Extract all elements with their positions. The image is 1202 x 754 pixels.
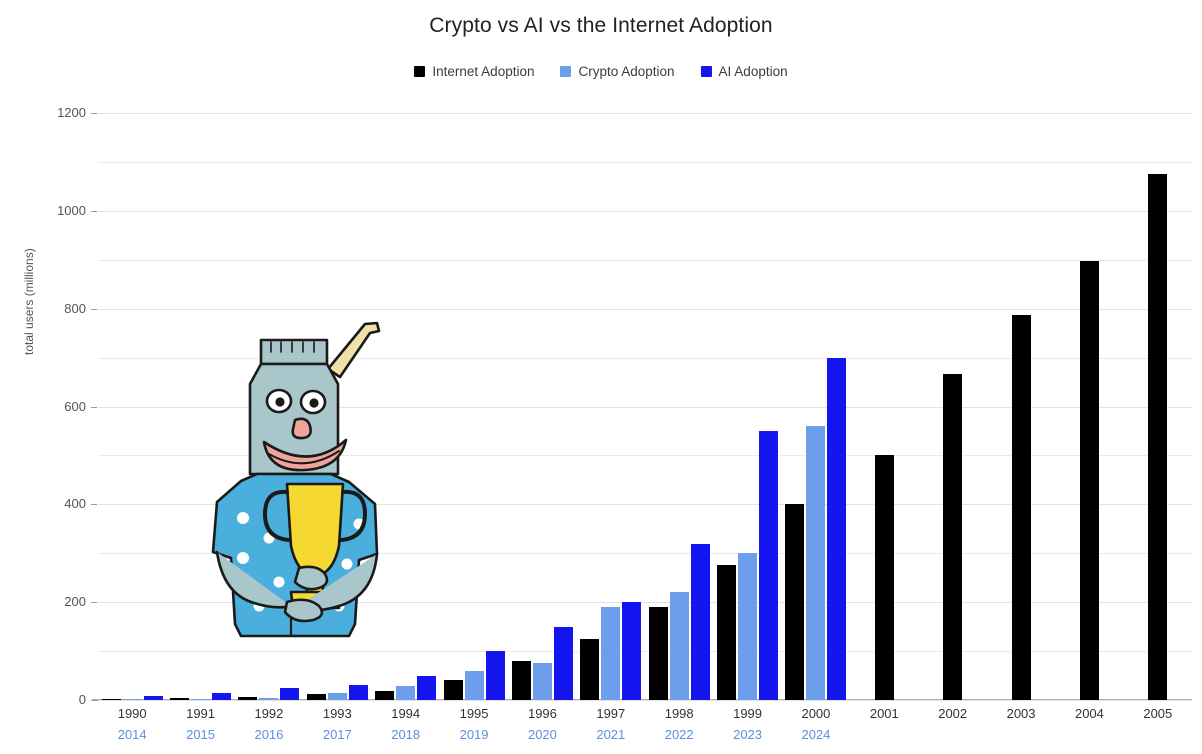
- bar-ai[interactable]: [622, 602, 641, 700]
- bar-ai[interactable]: [349, 685, 368, 700]
- x-axis-tick-label-primary: 1996: [508, 703, 576, 724]
- x-axis-tick-label-secondary: 2020: [508, 724, 576, 745]
- x-axis-tick-label: 19952019: [440, 703, 508, 745]
- x-axis-tick-label-secondary: 2019: [440, 724, 508, 745]
- chart-legend: Internet Adoption Crypto Adoption AI Ado…: [0, 64, 1202, 79]
- bar-cluster: [235, 113, 303, 700]
- bar-cluster: [1055, 113, 1123, 700]
- bar-internet[interactable]: [170, 698, 189, 700]
- y-axis-tick-mark: [91, 113, 97, 114]
- x-axis-tick-label-primary: 1995: [440, 703, 508, 724]
- bar-internet[interactable]: [875, 455, 894, 700]
- bar-internet[interactable]: [649, 607, 668, 700]
- bar-ai[interactable]: [417, 676, 436, 700]
- x-axis-labels: 1990201419912015199220161993201719942018…: [98, 703, 1192, 751]
- bar-internet[interactable]: [580, 639, 599, 700]
- x-axis-tick-label-primary: 1999: [713, 703, 781, 724]
- x-axis-tick-label-primary: 1997: [577, 703, 645, 724]
- y-axis-tick-mark: [91, 211, 97, 212]
- bar-internet[interactable]: [444, 680, 463, 700]
- bar-internet[interactable]: [1148, 174, 1167, 700]
- x-axis-tick-label-primary: 1993: [303, 703, 371, 724]
- y-axis-tick-mark: [91, 602, 97, 603]
- bar-ai[interactable]: [691, 544, 710, 700]
- x-axis-tick-label-primary: 1998: [645, 703, 713, 724]
- legend-item-internet-adoption[interactable]: Internet Adoption: [414, 64, 534, 79]
- y-axis-tick-label: 400: [0, 496, 86, 511]
- x-axis-tick-label-primary: 2000: [782, 703, 850, 724]
- bar-cluster: [782, 113, 850, 700]
- x-axis-tick-label-primary: 1991: [166, 703, 234, 724]
- x-axis-tick-label: 2002: [919, 703, 987, 724]
- legend-item-crypto-adoption[interactable]: Crypto Adoption: [560, 64, 674, 79]
- x-axis-tick-label-primary: 1990: [98, 703, 166, 724]
- y-axis-tick-label: 800: [0, 301, 86, 316]
- bar-crypto[interactable]: [601, 607, 620, 700]
- y-axis-tick-mark: [91, 700, 97, 701]
- x-axis-tick-label: 20002024: [782, 703, 850, 745]
- x-axis-tick-label: 19982022: [645, 703, 713, 745]
- x-axis-tick-label-secondary: 2022: [645, 724, 713, 745]
- legend-swatch-icon: [701, 66, 712, 77]
- y-axis-tick-label: 1000: [0, 203, 86, 218]
- bar-internet[interactable]: [1080, 261, 1099, 700]
- bar-crypto[interactable]: [259, 698, 278, 700]
- legend-swatch-icon: [414, 66, 425, 77]
- bar-ai[interactable]: [486, 651, 505, 700]
- bar-cluster: [850, 113, 918, 700]
- x-axis-tick-label-primary: 2005: [1124, 703, 1192, 724]
- bar-cluster: [577, 113, 645, 700]
- x-axis-tick-label-secondary: 2018: [372, 724, 440, 745]
- bar-cluster: [166, 113, 234, 700]
- x-axis-tick-label: 2004: [1055, 703, 1123, 724]
- x-axis-tick-label-secondary: 2021: [577, 724, 645, 745]
- bar-crypto[interactable]: [738, 553, 757, 700]
- bar-internet[interactable]: [307, 694, 326, 700]
- bar-crypto[interactable]: [806, 426, 825, 700]
- bar-cluster: [98, 113, 166, 700]
- bar-cluster: [508, 113, 576, 700]
- bar-cluster: [713, 113, 781, 700]
- x-axis-tick-label-secondary: 2014: [98, 724, 166, 745]
- plot-area: 020040060080010001200: [98, 113, 1192, 700]
- x-axis-tick-label-primary: 2004: [1055, 703, 1123, 724]
- x-axis-tick-label: 19942018: [372, 703, 440, 745]
- x-axis-tick-label-primary: 2002: [919, 703, 987, 724]
- x-axis-tick-label-primary: 2001: [850, 703, 918, 724]
- y-axis-tick-mark: [91, 407, 97, 408]
- bar-ai[interactable]: [759, 431, 778, 700]
- bar-cluster: [440, 113, 508, 700]
- bar-internet[interactable]: [512, 661, 531, 700]
- y-axis-tick-mark: [91, 504, 97, 505]
- chart-container: Crypto vs AI vs the Internet Adoption In…: [0, 0, 1202, 754]
- bar-cluster: [372, 113, 440, 700]
- x-axis-tick-label: 19992023: [713, 703, 781, 745]
- x-axis-tick-label: 2001: [850, 703, 918, 724]
- bar-crypto[interactable]: [465, 671, 484, 700]
- bar-cluster: [1124, 113, 1192, 700]
- legend-label: Internet Adoption: [432, 64, 534, 79]
- x-axis-tick-label-secondary: 2023: [713, 724, 781, 745]
- x-axis-tick-label: 2003: [987, 703, 1055, 724]
- bar-ai[interactable]: [554, 627, 573, 700]
- x-axis-tick-label: 19962020: [508, 703, 576, 745]
- x-axis-tick-label: 2005: [1124, 703, 1192, 724]
- chart-title: Crypto vs AI vs the Internet Adoption: [0, 14, 1202, 38]
- x-axis-tick-label-primary: 1992: [235, 703, 303, 724]
- x-axis-tick-label: 19972021: [577, 703, 645, 745]
- bar-crypto[interactable]: [328, 693, 347, 700]
- bar-ai[interactable]: [144, 696, 163, 700]
- bar-ai[interactable]: [212, 693, 231, 700]
- legend-label: AI Adoption: [719, 64, 788, 79]
- major-gridline: [98, 700, 1192, 701]
- bar-internet[interactable]: [238, 697, 257, 700]
- bar-internet[interactable]: [102, 699, 121, 700]
- bar-internet[interactable]: [717, 565, 736, 700]
- bar-crypto[interactable]: [533, 663, 552, 700]
- legend-swatch-icon: [560, 66, 571, 77]
- x-axis-tick-label: 19902014: [98, 703, 166, 745]
- y-axis-tick-label: 0: [0, 692, 86, 707]
- x-axis-tick-label-secondary: 2024: [782, 724, 850, 745]
- x-axis-tick-label-primary: 1994: [372, 703, 440, 724]
- x-axis-tick-label-secondary: 2015: [166, 724, 234, 745]
- y-axis-tick-label: 200: [0, 594, 86, 609]
- bar-crypto[interactable]: [123, 699, 142, 700]
- bar-crypto[interactable]: [670, 592, 689, 700]
- x-axis-tick-label-secondary: 2017: [303, 724, 371, 745]
- legend-item-ai-adoption[interactable]: AI Adoption: [701, 64, 788, 79]
- bar-ai[interactable]: [827, 358, 846, 700]
- legend-label: Crypto Adoption: [578, 64, 674, 79]
- x-axis-tick-label-secondary: 2016: [235, 724, 303, 745]
- bar-cluster: [645, 113, 713, 700]
- y-axis-tick-mark: [91, 309, 97, 310]
- x-axis-tick-label-primary: 2003: [987, 703, 1055, 724]
- bar-crypto[interactable]: [396, 686, 415, 700]
- x-axis-tick-label: 19922016: [235, 703, 303, 745]
- x-axis-tick-label: 19932017: [303, 703, 371, 745]
- bar-cluster: [303, 113, 371, 700]
- y-axis-tick-label: 1200: [0, 105, 86, 120]
- bar-crypto[interactable]: [191, 699, 210, 700]
- y-axis-tick-label: 600: [0, 399, 86, 414]
- bar-cluster: [987, 113, 1055, 700]
- bar-internet[interactable]: [375, 691, 394, 700]
- bar-internet[interactable]: [943, 374, 962, 700]
- bar-cluster: [919, 113, 987, 700]
- x-axis-tick-label: 19912015: [166, 703, 234, 745]
- bar-ai[interactable]: [280, 688, 299, 700]
- bar-internet[interactable]: [1012, 315, 1031, 700]
- bar-internet[interactable]: [785, 504, 804, 700]
